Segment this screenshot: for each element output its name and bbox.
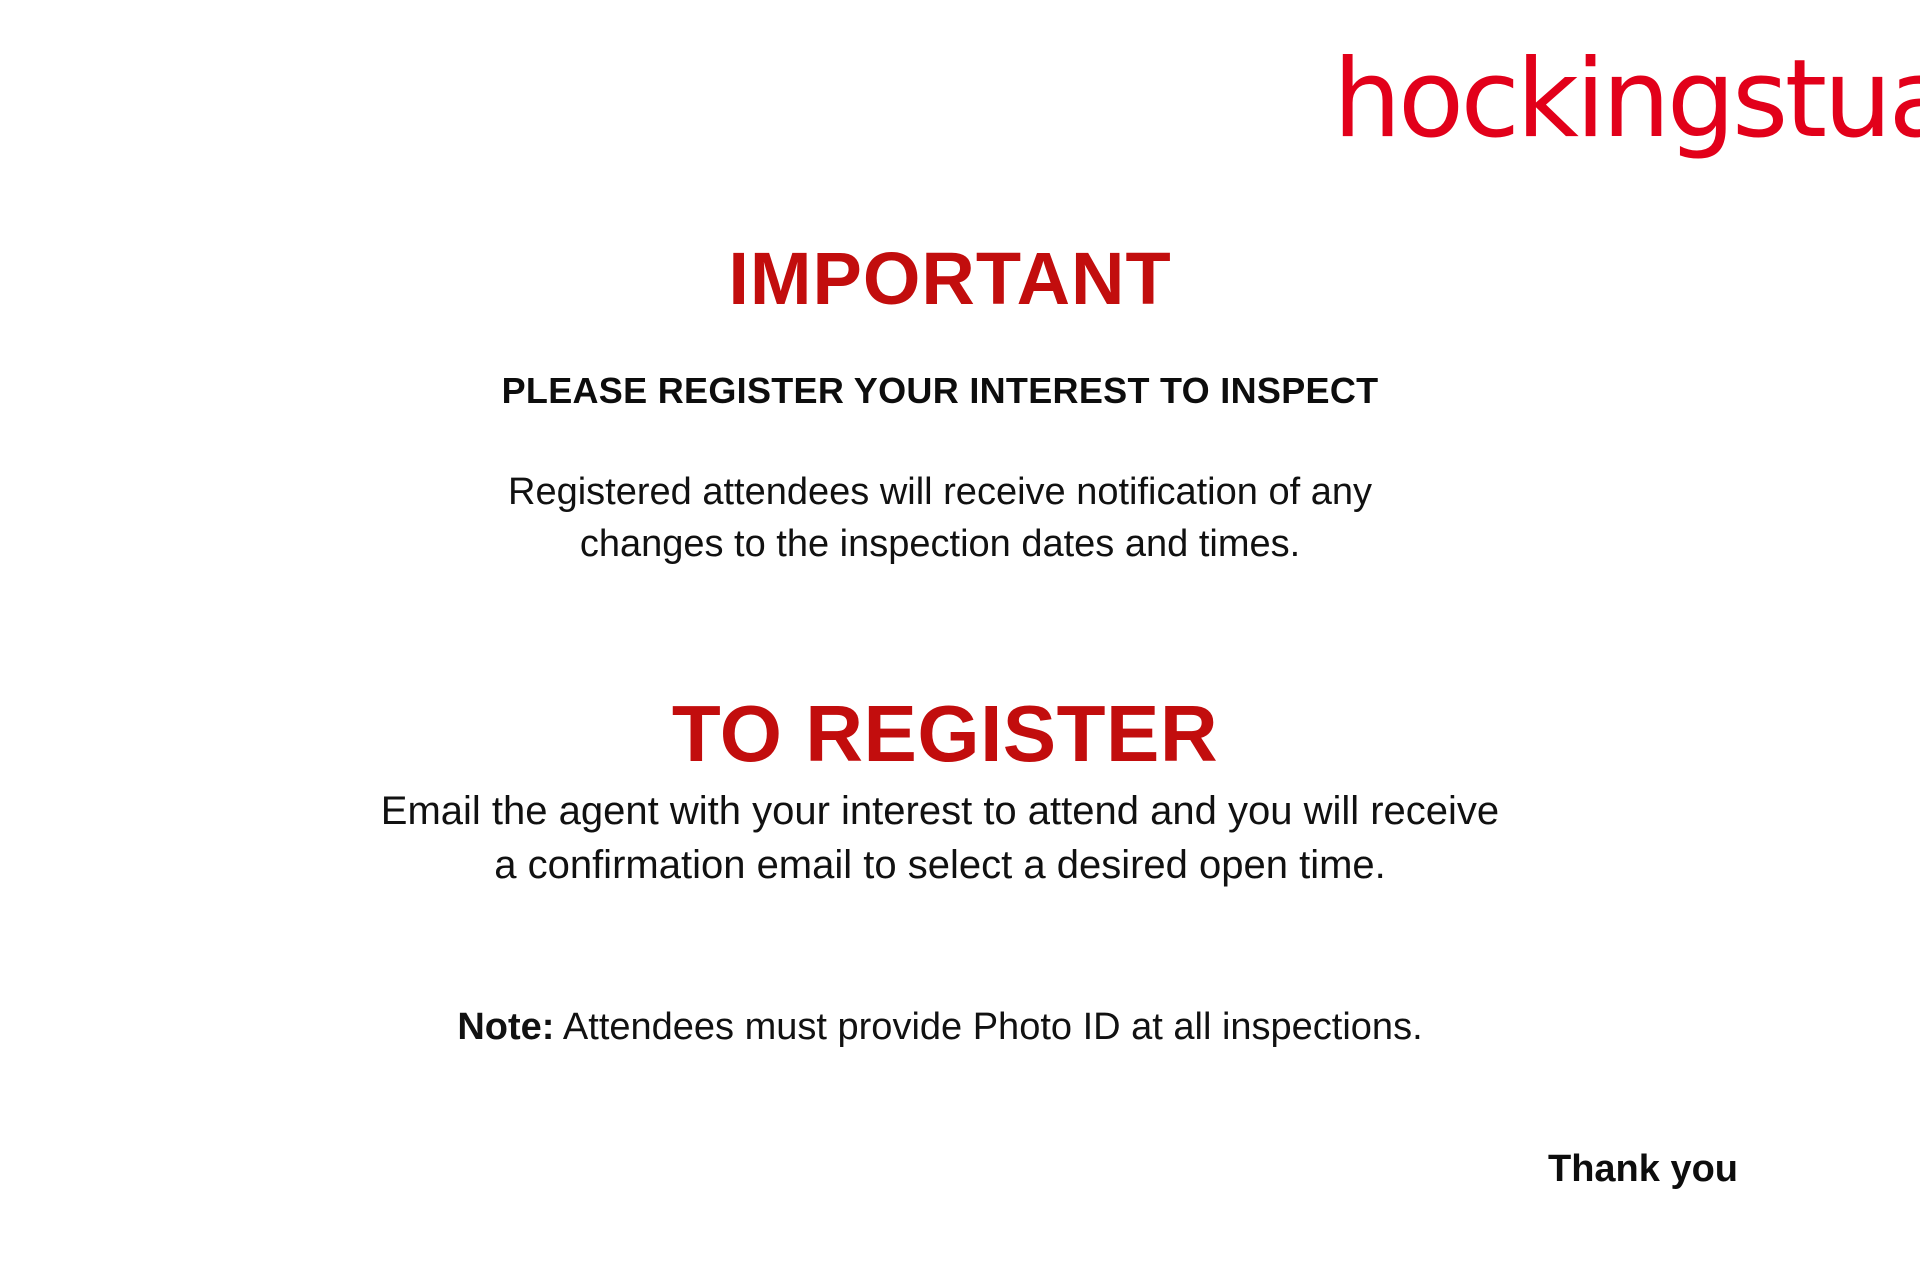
paragraph-email-line-1: Email the agent with your interest to at… bbox=[0, 784, 1900, 838]
paragraph-notification: Registered attendees will receive notifi… bbox=[0, 466, 1900, 570]
note-label: Note: bbox=[457, 1006, 554, 1048]
paragraph-notification-line-2: changes to the inspection dates and time… bbox=[0, 518, 1900, 570]
page-title-important: IMPORTANT bbox=[0, 236, 1910, 322]
hockingstuart-logo: hockingstuart bbox=[1333, 38, 1920, 168]
section-title-to-register: TO REGISTER bbox=[0, 688, 1905, 780]
paragraph-notification-line-1: Registered attendees will receive notifi… bbox=[0, 466, 1900, 518]
note-photo-id: Note: Attendees must provide Photo ID at… bbox=[0, 1002, 1900, 1052]
paragraph-email-instructions: Email the agent with your interest to at… bbox=[0, 784, 1900, 892]
brand-logo-text: hockingstuart bbox=[1333, 38, 1920, 162]
sign-off-thank-you: Thank you bbox=[1548, 1144, 1738, 1194]
paragraph-email-line-2: a confirmation email to select a desired… bbox=[0, 838, 1900, 892]
subheading-register-interest: PLEASE REGISTER YOUR INTEREST TO INSPECT bbox=[0, 368, 1900, 414]
inspection-notice-slide: hockingstuart IMPORTANT PLEASE REGISTER … bbox=[0, 0, 1920, 1280]
note-text: Attendees must provide Photo ID at all i… bbox=[554, 1006, 1422, 1048]
